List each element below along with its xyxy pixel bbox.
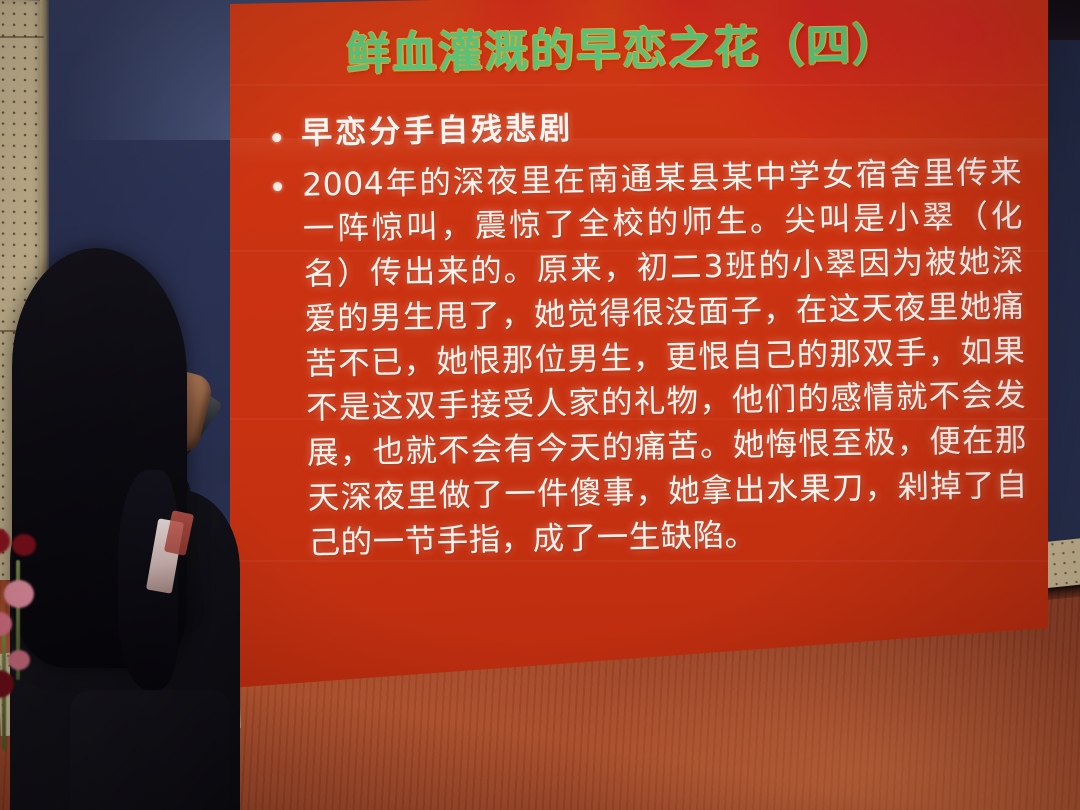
slide-bullet-list: 早恋分手自残悲剧 2004年的深夜里在南通某县某中学女宿舍里传来一阵惊叫，震惊了…: [272, 101, 1048, 576]
slide-title: 鲜血灌溉的早恋之花（四）: [345, 6, 1046, 82]
screenshot-root: 鲜血灌溉的早恋之花（四） 早恋分手自残悲剧 2004年的深夜里在南通某县某中学女…: [0, 0, 1080, 810]
flower-red-1: [0, 528, 10, 554]
bullet-heading-text: 早恋分手自残悲剧: [301, 110, 574, 154]
list-item: 早恋分手自残悲剧: [272, 101, 1048, 154]
presenter-skirt: [70, 690, 230, 810]
flower-pink-1: [4, 580, 34, 608]
flower-arrangement: [0, 520, 78, 810]
slide-content: 鲜血灌溉的早恋之花（四） 早恋分手自残悲剧 2004年的深夜里在南通某县某中学女…: [228, 0, 1048, 688]
flower-pink-3: [8, 650, 30, 670]
flower-red-2: [12, 534, 36, 556]
bullet-body-text: 2004年的深夜里在南通某县某中学女宿舍里传来一阵惊叫，震惊了全校的师生。尖叫是…: [302, 150, 1029, 566]
flower-pink-2: [0, 612, 12, 636]
flower-red-3: [0, 670, 14, 698]
list-item: 2004年的深夜里在南通某县某中学女宿舍里传来一阵惊叫，震惊了全校的师生。尖叫是…: [273, 150, 1048, 567]
